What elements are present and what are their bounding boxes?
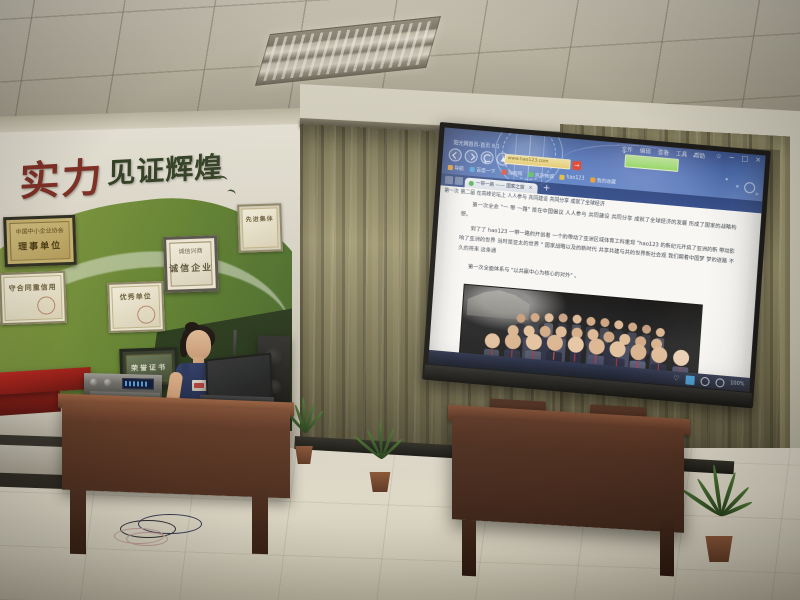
person-strap	[182, 363, 189, 379]
window-controls[interactable]: ☆ − □ ×	[715, 152, 761, 164]
taskbar-app-icon[interactable]	[483, 372, 492, 381]
minimize-icon[interactable]: −	[729, 153, 735, 161]
bookmark-label: 导航	[454, 164, 464, 172]
zoom-icon[interactable]	[715, 377, 725, 387]
screen-surface: 阳光网首页-首页 8.1 文件 编辑 查看 工具 帮助 ☆ − □ ×	[428, 127, 765, 391]
certificate-seal	[137, 305, 156, 324]
menu-item-tools[interactable]: 工具	[676, 150, 688, 159]
bookmarks-overflow-icon[interactable]: »	[755, 191, 759, 198]
flower-pot	[293, 446, 315, 464]
taskbar-app-icon[interactable]	[509, 374, 518, 383]
plaque-big-text: 理事单位	[7, 240, 73, 256]
plaque-big-text: 诚信企业	[167, 262, 215, 277]
bookmark-item[interactable]: 淘宝网	[501, 169, 522, 178]
bookmark-item[interactable]: hao123	[560, 175, 585, 182]
potted-plant	[358, 432, 402, 492]
bookmark-label: 淘宝网	[508, 169, 523, 177]
projection-screen: 阳光网首页-首页 8.1 文件 编辑 查看 工具 帮助 ☆ − □ ×	[422, 122, 771, 408]
amplifier-knob[interactable]	[90, 378, 98, 386]
heart-icon[interactable]: ♡	[673, 375, 680, 383]
bookmark-label: 京东商城	[535, 171, 555, 180]
shirt-graphic	[192, 380, 207, 391]
back-icon[interactable]	[448, 148, 462, 162]
certificate: 先进集体	[237, 203, 283, 253]
refresh-icon[interactable]	[480, 151, 494, 165]
bird-icon	[215, 175, 228, 185]
zoom-level-label[interactable]: 100%	[730, 380, 745, 387]
cloud-icon[interactable]	[445, 176, 454, 185]
volume-icon[interactable]	[700, 376, 710, 386]
certificate: 守合同重信用	[0, 271, 67, 325]
go-button[interactable]: →	[572, 161, 582, 171]
table-leg	[462, 520, 476, 577]
screen-frame: 阳光网首页-首页 8.1 文件 编辑 查看 工具 帮助 ☆ − □ ×	[422, 122, 771, 408]
start-button-icon[interactable]	[431, 368, 440, 377]
plant-leaf	[353, 435, 383, 460]
award-plaque: 中国中小企业协会 理事单位	[3, 215, 77, 267]
phone-icon[interactable]	[455, 177, 464, 186]
certificate: 优秀单位	[107, 281, 165, 333]
slogan-secondary-text: 见证辉煌	[107, 145, 223, 192]
bookmark-item[interactable]: 我的收藏	[590, 176, 616, 185]
award-plaque: 诚信兴商 诚信企业	[163, 235, 219, 293]
bookmark-item[interactable]: 导航	[448, 164, 465, 172]
plaque-small-text: 诚信兴商	[166, 246, 214, 257]
certificate-title: 优秀单位	[110, 291, 162, 303]
lectern-leg	[70, 488, 86, 555]
amplifier-display	[122, 378, 154, 390]
taskbar-clock[interactable]: 20:01	[733, 396, 745, 402]
menu-item-file[interactable]: 文件	[621, 145, 633, 154]
favorites-star-icon[interactable]: ☆	[715, 152, 722, 161]
maximize-icon[interactable]: □	[741, 154, 748, 163]
menu-item-help[interactable]: 帮助	[694, 151, 706, 160]
web-page-content: 第一次 第二届 在高峰论坛上 人人参与 共同建设 共同分享 成就了全球经济 第一…	[429, 185, 761, 378]
lectern	[62, 402, 290, 499]
bookmark-item[interactable]: 百度一下	[470, 166, 496, 175]
bookmark-label: 百度一下	[476, 166, 496, 175]
amplifier-knob[interactable]	[104, 379, 112, 387]
new-tab-button[interactable]: +	[542, 184, 550, 194]
forward-icon[interactable]	[464, 149, 478, 163]
meeting-room-photo: 实力见证辉煌 中国中小企业协会 理事单位 守合同重信用 诚信兴商 诚信企业 优秀…	[0, 0, 800, 600]
tab-favicon	[469, 180, 474, 185]
flower-pot	[367, 472, 393, 492]
slogan-primary-text: 实力	[19, 145, 105, 208]
browser-icon[interactable]	[685, 375, 695, 385]
floor-cables	[120, 512, 250, 546]
bookmark-label: hao123	[566, 175, 584, 182]
lectern-leg	[252, 488, 268, 555]
conference-table	[452, 415, 684, 533]
certificate-title: 先进集体	[240, 213, 280, 223]
table-leg	[660, 520, 674, 577]
bookmark-label: 我的收藏	[597, 177, 617, 186]
menu-item-view[interactable]: 查看	[658, 148, 670, 157]
taskbar-app-icon[interactable]	[496, 373, 505, 382]
close-icon[interactable]: ×	[755, 156, 761, 164]
taskbar-app-icon[interactable]	[457, 370, 466, 379]
flower-pot	[702, 536, 736, 562]
taskbar-app-icon[interactable]	[470, 371, 479, 380]
sparkle-icon	[726, 178, 728, 180]
statusbar-right-group[interactable]: ♡ 100%	[673, 374, 745, 389]
menu-item-edit[interactable]: 编辑	[639, 147, 651, 156]
person-head	[186, 330, 211, 360]
taskbar-app-icon[interactable]	[444, 369, 453, 378]
tab-close-icon[interactable]: ×	[528, 185, 533, 191]
bookmark-item[interactable]: 京东商城	[528, 171, 554, 180]
potted-plant	[688, 478, 750, 562]
cable-loop	[126, 532, 168, 546]
